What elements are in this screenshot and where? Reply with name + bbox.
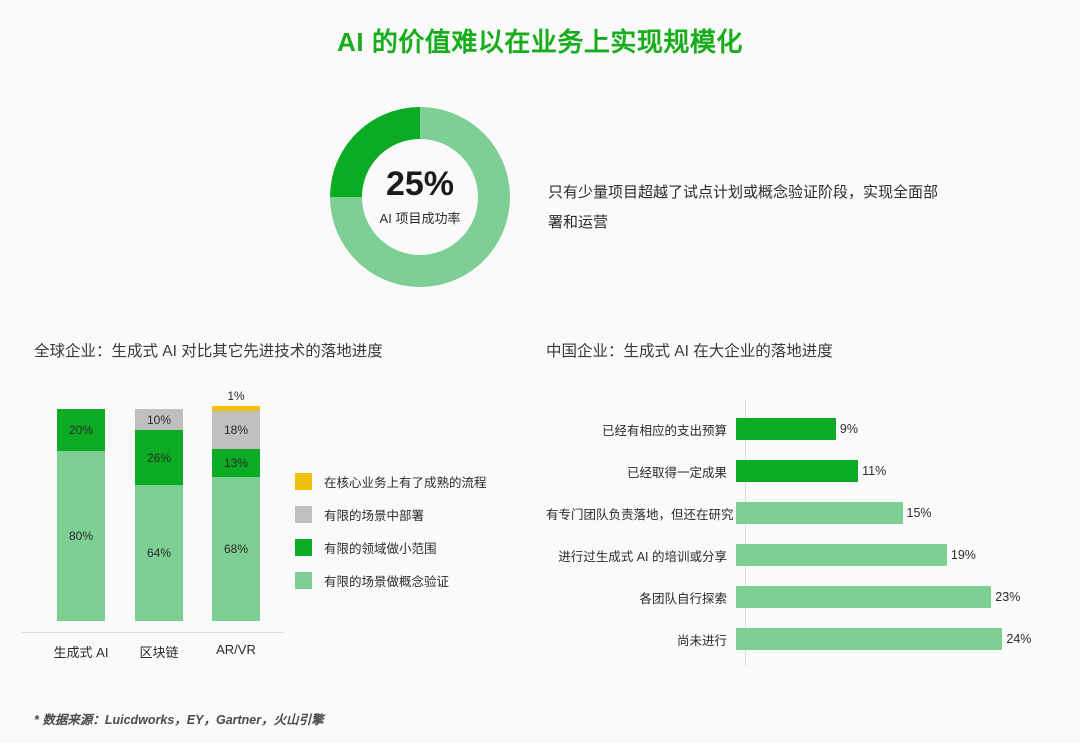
horizontal-bar-track: 15%: [736, 502, 1066, 524]
horizontal-bar-fill: [736, 628, 1002, 650]
horizontal-bar-label: 进行过生成式 AI 的培训或分享: [546, 546, 736, 565]
horizontal-bar-value-label: 23%: [995, 590, 1020, 604]
legend-item[interactable]: 有限的场景做概念验证: [295, 564, 515, 597]
legend-swatch-icon: [295, 473, 312, 490]
horizontal-bar-label: 已经取得一定成果: [546, 462, 736, 481]
horizontal-bar-track: 23%: [736, 586, 1066, 608]
horizontal-bar-track: 9%: [736, 418, 1066, 440]
stack-segment-value: 13%: [224, 456, 248, 470]
right-chart-subtitle: 中国企业：生成式 AI 在大企业的落地进度: [546, 339, 833, 361]
stack-segment: 18%: [212, 411, 260, 449]
legend-item-label: 在核心业务上有了成熟的流程: [324, 472, 487, 491]
legend-swatch-icon: [295, 506, 312, 523]
page-title: AI 的价值难以在业务上实现规模化: [0, 22, 1080, 59]
horizontal-bar-value-label: 19%: [951, 548, 976, 562]
horizontal-bar-fill: [736, 544, 947, 566]
stacked-column-plot-area: 20%80%10%26%64%1%18%13%68%: [22, 400, 292, 632]
success-rate-donut-chart: 25% AI 项目成功率: [330, 107, 510, 287]
stack-segment: 64%: [135, 485, 183, 621]
hero-paragraph: 只有少量项目超越了试点计划或概念验证阶段，实现全面部署和运营: [548, 178, 948, 238]
horizontal-bar-fill: [736, 418, 836, 440]
horizontal-bar-row: 尚未进行24%: [546, 628, 1066, 650]
horizontal-bar-label: 已经有相应的支出预算: [546, 420, 736, 439]
stack-segment: 13%: [212, 449, 260, 477]
stacked-column-category-labels: 生成式 AI区块链AR/VR: [22, 642, 284, 662]
left-chart-subtitle: 全球企业：生成式 AI 对比其它先进技术的落地进度: [34, 339, 383, 361]
horizontal-bar-track: 19%: [736, 544, 1066, 566]
horizontal-bar-track: 24%: [736, 628, 1066, 650]
stacked-column-chart: 20%80%10%26%64%1%18%13%68% 生成式 AI区块链AR/V…: [22, 400, 292, 660]
stack-segment-value: 1%: [227, 389, 244, 403]
horizontal-bar-label: 尚未进行: [546, 630, 736, 649]
source-footnote: * 数据来源：Luicdworks，EY，Gartner，火山引擎: [34, 709, 324, 728]
donut-caption: AI 项目成功率: [380, 208, 461, 227]
stack-segment: 20%: [57, 409, 105, 451]
stacked-column: 20%80%: [57, 409, 105, 621]
donut-value-label: 25%: [386, 167, 454, 201]
stacked-column-legend: 在核心业务上有了成熟的流程有限的场景中部署有限的领域做小范围有限的场景做概念验证: [295, 465, 515, 597]
horizontal-bar-fill: [736, 502, 903, 524]
horizontal-bar-value-label: 24%: [1006, 632, 1031, 646]
legend-item-label: 有限的场景中部署: [324, 505, 424, 524]
legend-item-label: 有限的领域做小范围: [324, 538, 437, 557]
legend-item[interactable]: 在核心业务上有了成熟的流程: [295, 465, 515, 498]
stacked-column-category-label: AR/VR: [191, 642, 281, 657]
stacked-column-category-label: 生成式 AI: [36, 642, 126, 661]
horizontal-bar-chart: 已经有相应的支出预算9%已经取得一定成果11%有专门团队负责落地，但还在研究15…: [546, 400, 1066, 668]
horizontal-bar-label: 各团队自行探索: [546, 588, 736, 607]
stack-segment-value: 64%: [147, 546, 171, 560]
horizontal-bar-fill: [736, 586, 991, 608]
horizontal-bar-fill: [736, 460, 858, 482]
slide-canvas: AI 的价值难以在业务上实现规模化 25% AI 项目成功率 只有少量项目超越了…: [0, 0, 1080, 743]
stack-segment: 68%: [212, 477, 260, 621]
legend-item[interactable]: 有限的领域做小范围: [295, 531, 515, 564]
stack-segment: 10%: [135, 409, 183, 430]
stacked-column-baseline: [22, 632, 284, 633]
legend-item[interactable]: 有限的场景中部署: [295, 498, 515, 531]
horizontal-bar-value-label: 9%: [840, 422, 858, 436]
stack-segment-value: 80%: [69, 529, 93, 543]
stacked-column: 10%26%64%: [135, 409, 183, 621]
horizontal-bar-row: 各团队自行探索23%: [546, 586, 1066, 608]
stacked-column: 1%18%13%68%: [212, 406, 260, 621]
stack-segment: 80%: [57, 451, 105, 621]
stack-segment-value: 26%: [147, 451, 171, 465]
horizontal-bar-value-label: 15%: [907, 506, 932, 520]
legend-item-label: 有限的场景做概念验证: [324, 571, 449, 590]
horizontal-bar-row: 有专门团队负责落地，但还在研究15%: [546, 502, 1066, 524]
horizontal-bar-track: 11%: [736, 460, 1066, 482]
stack-segment-value: 68%: [224, 542, 248, 556]
legend-swatch-icon: [295, 572, 312, 589]
horizontal-bar-label: 有专门团队负责落地，但还在研究: [546, 504, 736, 523]
horizontal-bar-row: 进行过生成式 AI 的培训或分享19%: [546, 544, 1066, 566]
stack-segment-value: 10%: [147, 413, 171, 427]
donut-center: 25% AI 项目成功率: [362, 139, 478, 255]
stack-segment-value: 18%: [224, 423, 248, 437]
stack-segment-value: 20%: [69, 423, 93, 437]
stack-segment: 26%: [135, 430, 183, 485]
horizontal-bar-value-label: 11%: [862, 464, 886, 478]
horizontal-bar-row: 已经取得一定成果11%: [546, 460, 1066, 482]
horizontal-bar-row: 已经有相应的支出预算9%: [546, 418, 1066, 440]
legend-swatch-icon: [295, 539, 312, 556]
